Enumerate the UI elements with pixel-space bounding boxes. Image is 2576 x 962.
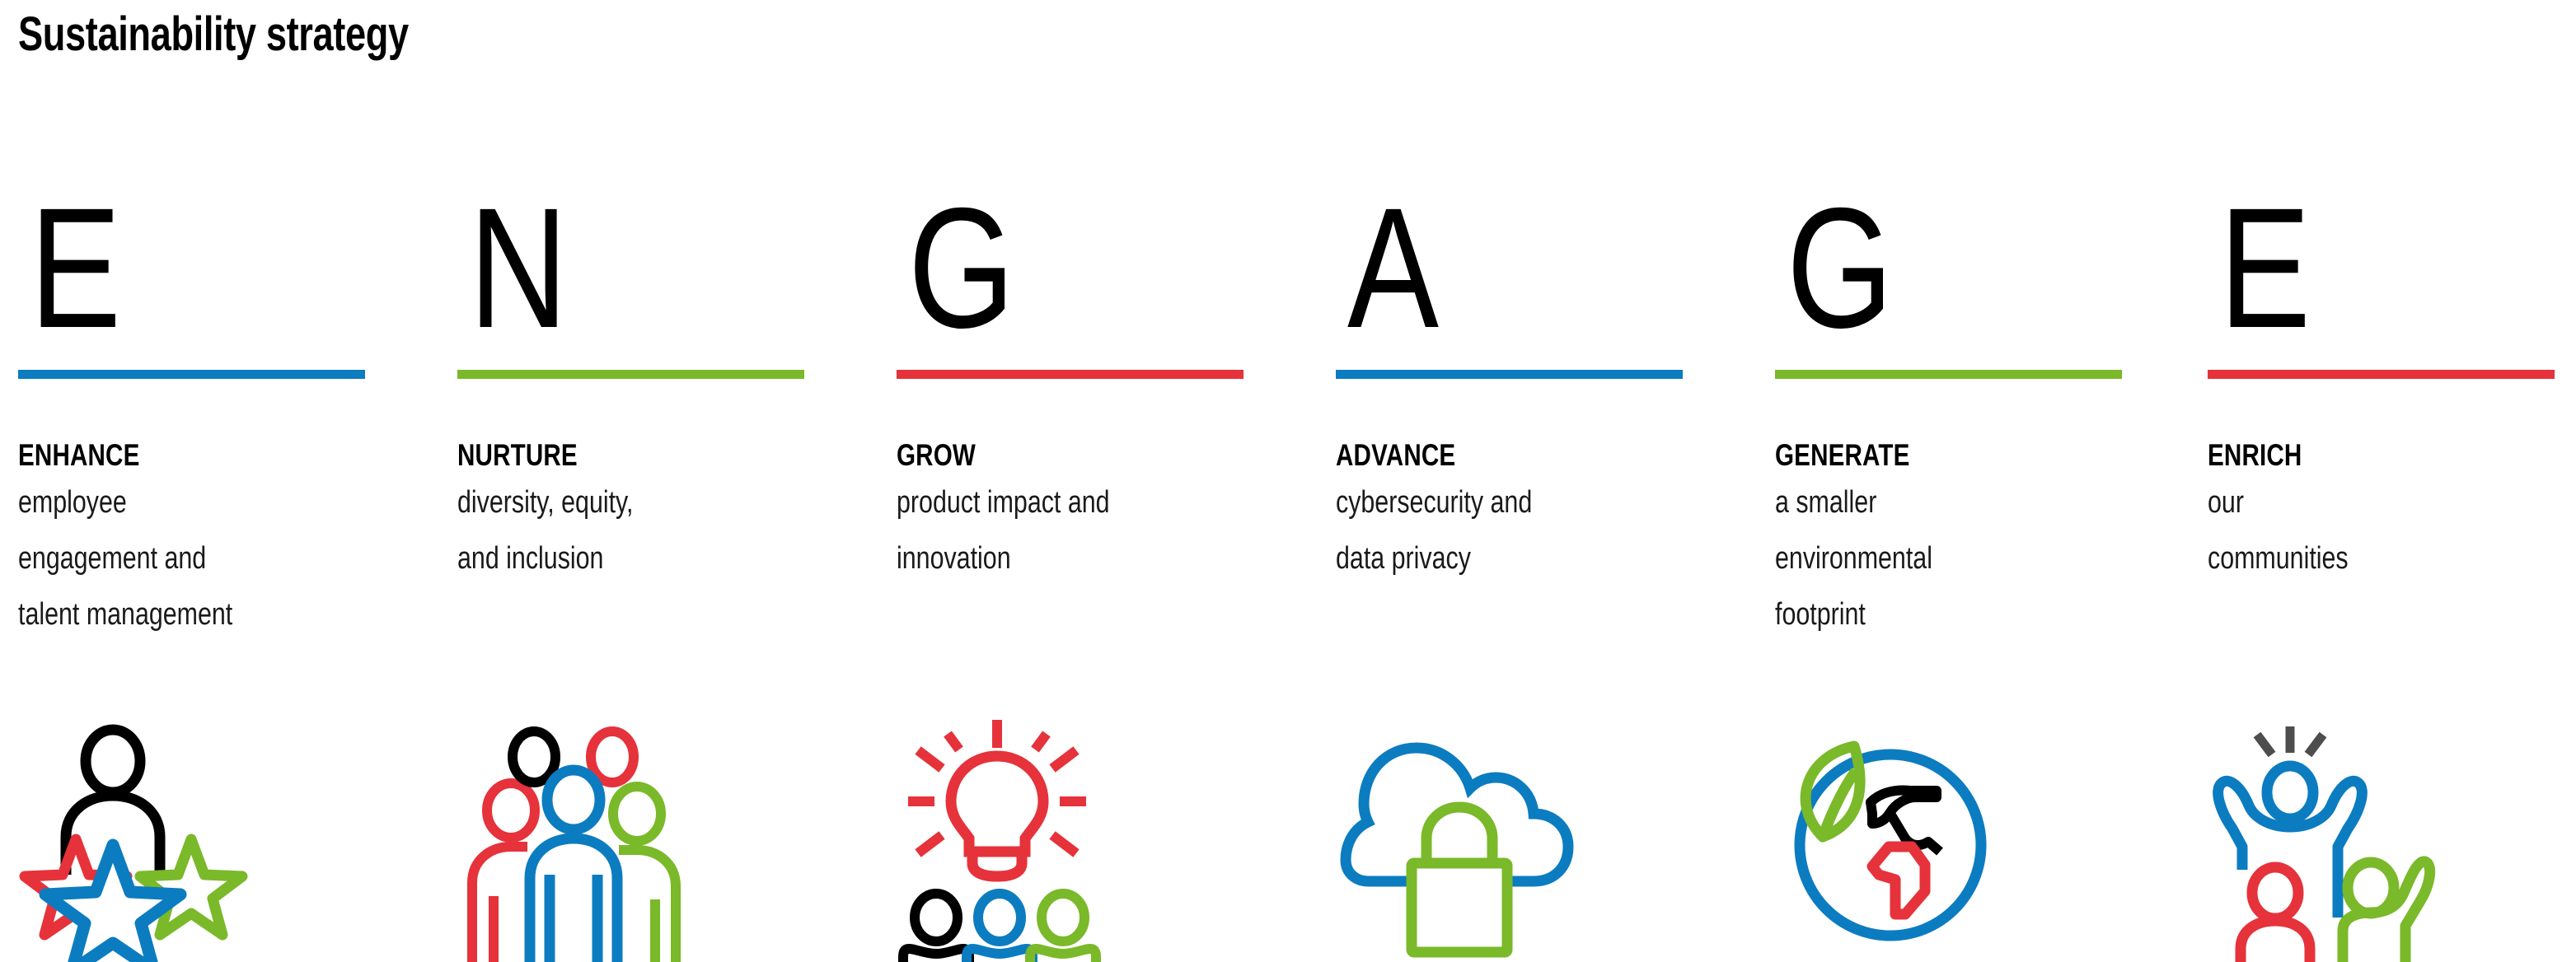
- column-description-enhance: employee engagement and talent managemen…: [18, 475, 374, 642]
- label-block-enhance: ENHANCE employee engagement and talent m…: [18, 438, 372, 642]
- column-description-advance: cybersecurity and data privacy: [1336, 475, 1692, 586]
- lightbulb-with-people-icon: [897, 713, 1152, 962]
- column-rule-grow: [897, 370, 1244, 379]
- acronym-letter-g1: G: [908, 183, 1014, 354]
- label-block-nurture: NURTURE diversity, equity, and inclusion: [457, 438, 812, 587]
- strategy-column-nurture: N NURTURE diversity, equity, and inclusi…: [457, 0, 804, 962]
- label-block-advance: ADVANCE cybersecurity and data privacy: [1336, 438, 1690, 587]
- column-verb-enhance: ENHANCE: [18, 438, 302, 472]
- label-block-enrich: ENRICH our communities: [2208, 438, 2562, 587]
- column-description-grow: product impact and innovation: [897, 475, 1253, 586]
- strategy-column-enhance: E ENHANCE employee engagement and talent…: [18, 0, 365, 962]
- acronym-letter-e2: E: [2219, 183, 2311, 354]
- person-with-three-stars-icon: [18, 713, 274, 962]
- column-description-enrich: our communities: [2208, 475, 2564, 586]
- strategy-column-enrich: E ENRICH our communities: [2208, 0, 2555, 962]
- acronym-letter-g2: G: [1787, 183, 1893, 354]
- cloud-with-padlock-icon: [1336, 713, 1591, 962]
- column-rule-nurture: [457, 370, 804, 379]
- acronym-letter-n: N: [469, 183, 568, 354]
- acronym-letter-e1: E: [30, 183, 121, 354]
- acronym-letter-a: A: [1347, 183, 1439, 354]
- strategy-column-generate: G GENERATE a smaller environmental footp…: [1775, 0, 2122, 962]
- column-rule-enhance: [18, 370, 365, 379]
- column-verb-enrich: ENRICH: [2208, 438, 2491, 472]
- column-description-nurture: diversity, equity, and inclusion: [457, 475, 813, 586]
- column-rule-enrich: [2208, 370, 2555, 379]
- label-block-grow: GROW product impact and innovation: [897, 438, 1251, 587]
- label-block-generate: GENERATE a smaller environmental footpri…: [1775, 438, 2129, 642]
- column-verb-generate: GENERATE: [1775, 438, 2058, 472]
- column-rule-advance: [1336, 370, 1683, 379]
- engage-acronym-columns: E ENHANCE employee engagement and talent…: [0, 0, 2576, 962]
- celebrating-people-icon: [2208, 713, 2463, 962]
- strategy-column-grow: G GROW product impact and innovation: [897, 0, 1244, 962]
- column-rule-generate: [1775, 370, 2122, 379]
- group-of-people-icon: [457, 713, 713, 962]
- column-description-generate: a smaller environmental footprint: [1775, 475, 2131, 642]
- column-verb-grow: GROW: [897, 438, 1180, 472]
- globe-with-leaf-icon: [1775, 713, 2030, 962]
- column-verb-advance: ADVANCE: [1336, 438, 1619, 472]
- column-verb-nurture: NURTURE: [457, 438, 741, 472]
- strategy-column-advance: A ADVANCE cybersecurity and data privacy: [1336, 0, 1683, 962]
